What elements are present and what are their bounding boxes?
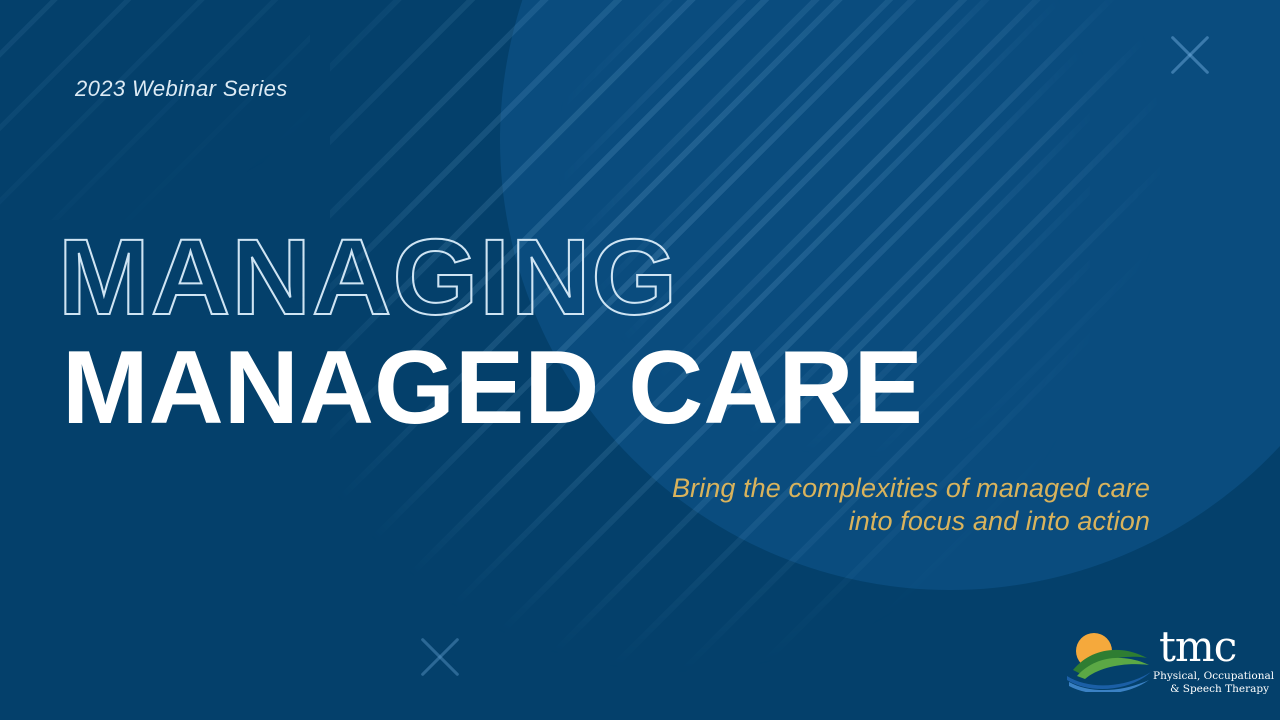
tmc-logo-text: tmc Physical, Occupational & Speech Ther… [1159, 626, 1269, 696]
webinar-title-slide: 2023 Webinar Series MANAGING MANAGED CAR… [0, 0, 1280, 720]
tmc-sun-hills-waves-icon [1063, 628, 1155, 692]
page-title: MANAGING MANAGED CARE [58, 224, 1138, 440]
subtitle-line-2: into focus and into action [450, 505, 1150, 538]
tmc-tagline-line-2: & Speech Therapy [1153, 683, 1269, 696]
slide-content: 2023 Webinar Series MANAGING MANAGED CAR… [0, 0, 1280, 720]
tmc-tagline-line-1: Physical, Occupational [1153, 670, 1269, 683]
title-line-solid: MANAGED CARE [62, 336, 1138, 440]
tmc-wordmark: tmc [1159, 626, 1269, 668]
tmc-logo: tmc Physical, Occupational & Speech Ther… [1063, 626, 1263, 698]
eyebrow-text: 2023 Webinar Series [75, 76, 288, 102]
subtitle-line-1: Bring the complexities of managed care [450, 472, 1150, 505]
subtitle: Bring the complexities of managed care i… [450, 472, 1150, 538]
tmc-tagline: Physical, Occupational & Speech Therapy [1153, 670, 1269, 696]
title-line-outline: MANAGING [58, 224, 1160, 330]
